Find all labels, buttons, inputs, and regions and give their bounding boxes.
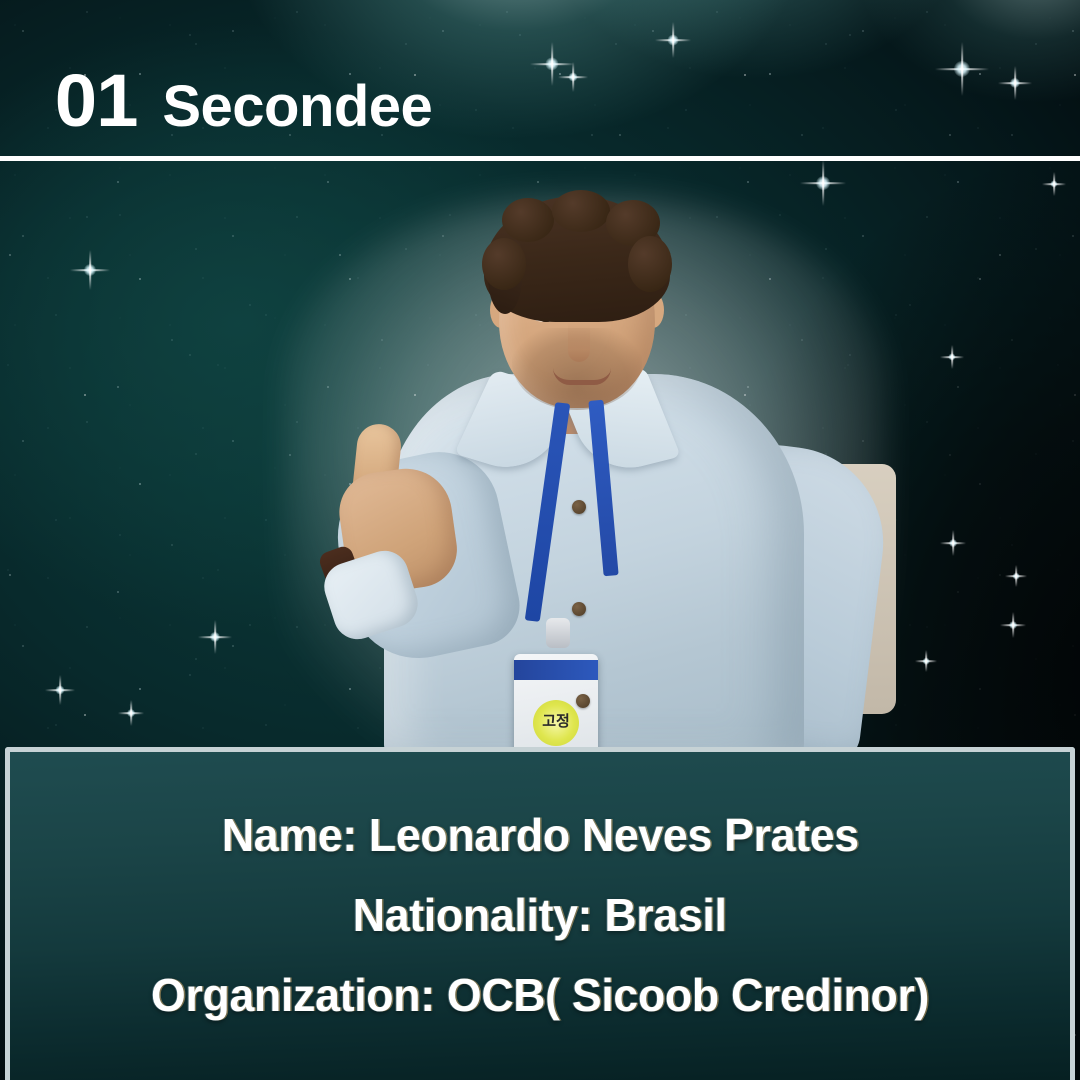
mouth <box>553 368 611 385</box>
slide-canvas: 01 Secondee <box>0 0 1080 1080</box>
hair-curl <box>502 198 554 242</box>
shirt-button <box>572 500 586 514</box>
hair-curl <box>552 190 610 232</box>
hair-curl <box>628 236 672 292</box>
info-panel: Name: Leonardo Neves Prates Nationality:… <box>5 747 1075 1080</box>
secondee-photo: 고정 <box>276 188 896 758</box>
lanyard-clip <box>546 618 570 648</box>
person-figure: 고정 <box>276 188 896 758</box>
header-title-row: 01 Secondee <box>56 64 432 138</box>
badge-header-strip <box>514 660 598 680</box>
nose <box>568 322 590 362</box>
header-number: 01 <box>55 64 138 138</box>
hair-curl <box>482 238 526 290</box>
organization-line: Organization: OCB( Sicoob Credinor) <box>151 968 929 1022</box>
name-line: Name: Leonardo Neves Prates <box>222 808 859 862</box>
nationality-line: Nationality: Brasil <box>353 888 727 942</box>
header-bar: 01 Secondee <box>0 0 1080 158</box>
header-divider <box>0 156 1080 161</box>
shirt-button <box>572 602 586 616</box>
header-title: Secondee <box>162 78 432 136</box>
